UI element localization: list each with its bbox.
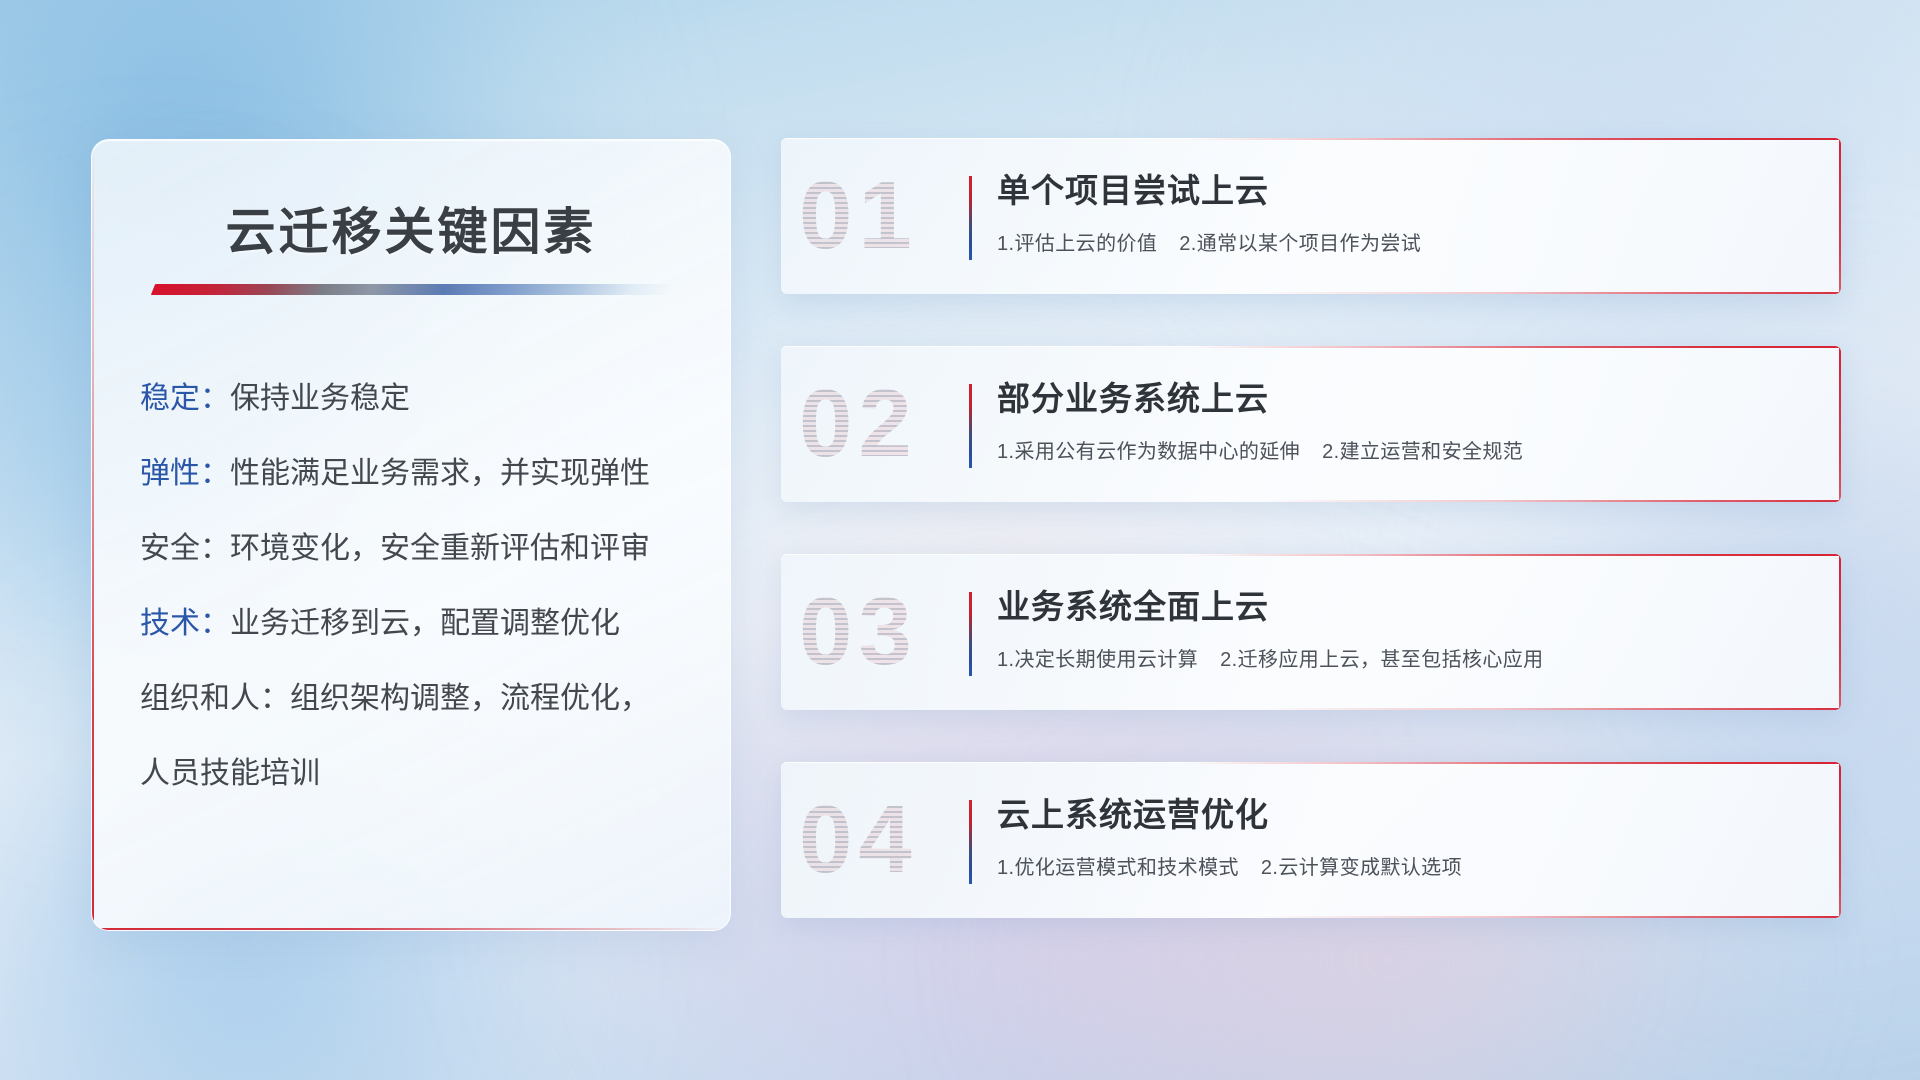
stage-accent-bar (969, 384, 972, 468)
migration-stage-card[interactable]: 0101单个项目尝试上云1.评估上云的价值2.通常以某个项目作为尝试 (781, 138, 1841, 294)
factor-row: 技术：业务迁移到云，配置调整优化 (140, 587, 690, 662)
stage-accent-bar (969, 800, 972, 884)
stage-points: 1.评估上云的价值2.通常以某个项目作为尝试 (997, 227, 1813, 256)
card-right-accent-line (1839, 138, 1841, 294)
migration-stage-card[interactable]: 0404云上系统运营优化1.优化运营模式和技术模式2.云计算变成默认选项 (781, 762, 1841, 918)
factor-row: 组织和人：组织架构调整，流程优化， (140, 662, 690, 737)
stage-number: 02 (799, 376, 918, 472)
card-top-accent-line (781, 762, 1841, 764)
stage-accent-bar (969, 592, 972, 676)
stage-point-1: 1.评估上云的价值 (997, 233, 1157, 255)
factor-description: 保持业务稳定 (230, 379, 410, 420)
card-bottom-accent-line (781, 500, 1841, 502)
stage-point-2: 2.建立运营和安全规范 (1322, 441, 1523, 463)
title-divider (151, 284, 675, 295)
stage-title: 部分业务系统上云 (997, 378, 1813, 419)
factor-description: 人员技能培训 (140, 754, 320, 795)
factor-list: 稳定：保持业务稳定弹性：性能满足业务需求，并实现弹性安全：环境变化，安全重新评估… (140, 362, 690, 812)
factor-description: 业务迁移到云，配置调整优化 (230, 604, 620, 645)
stage-title: 云上系统运营优化 (997, 794, 1813, 835)
stage-point-1: 1.优化运营模式和技术模式 (997, 857, 1239, 879)
stage-points: 1.决定长期使用云计算2.迁移应用上云，甚至包括核心应用 (997, 643, 1813, 672)
stage-point-2: 2.云计算变成默认选项 (1261, 857, 1462, 879)
card-top-accent-line (781, 346, 1841, 348)
stage-point-2: 2.通常以某个项目作为尝试 (1179, 233, 1421, 255)
card-right-accent-line (1839, 346, 1841, 502)
factor-row: 稳定：保持业务稳定 (140, 362, 690, 437)
stage-text-block: 云上系统运营优化1.优化运营模式和技术模式2.云计算变成默认选项 (997, 794, 1813, 880)
stage-text-block: 单个项目尝试上云1.评估上云的价值2.通常以某个项目作为尝试 (997, 170, 1813, 256)
factor-row: 人员技能培训 (140, 737, 690, 812)
stage-point-1: 1.采用公有云作为数据中心的延伸 (997, 441, 1300, 463)
factor-label: 技术： (140, 604, 230, 645)
key-factors-panel: 云迁移关键因素 稳定：保持业务稳定弹性：性能满足业务需求，并实现弹性安全：环境变… (91, 139, 731, 931)
card-bottom-accent-line (781, 916, 1841, 918)
factor-description: 环境变化，安全重新评估和评审 (230, 529, 650, 570)
factor-label: 安全： (140, 529, 230, 570)
migration-stage-card-list: 0101单个项目尝试上云1.评估上云的价值2.通常以某个项目作为尝试0202部分… (781, 138, 1841, 970)
stage-points: 1.优化运营模式和技术模式2.云计算变成默认选项 (997, 851, 1813, 880)
stage-text-block: 部分业务系统上云1.采用公有云作为数据中心的延伸2.建立运营和安全规范 (997, 378, 1813, 464)
card-right-accent-line (1839, 554, 1841, 710)
stage-point-1: 1.决定长期使用云计算 (997, 649, 1198, 671)
factor-row: 安全：环境变化，安全重新评估和评审 (140, 512, 690, 587)
stage-number: 01 (799, 168, 918, 264)
migration-stage-card[interactable]: 0202部分业务系统上云1.采用公有云作为数据中心的延伸2.建立运营和安全规范 (781, 346, 1841, 502)
page-title: 云迁移关键因素 (92, 192, 730, 264)
factor-description: 组织架构调整，流程优化， (290, 679, 650, 720)
factor-description: 性能满足业务需求，并实现弹性 (230, 454, 650, 495)
stage-number: 04 (799, 792, 918, 888)
stage-text-block: 业务系统全面上云1.决定长期使用云计算2.迁移应用上云，甚至包括核心应用 (997, 586, 1813, 672)
factor-label: 组织和人： (140, 679, 290, 720)
card-top-accent-line (781, 554, 1841, 556)
factor-label: 弹性： (140, 454, 230, 495)
card-bottom-accent-line (781, 708, 1841, 710)
factor-row: 弹性：性能满足业务需求，并实现弹性 (140, 437, 690, 512)
migration-stage-card[interactable]: 0303业务系统全面上云1.决定长期使用云计算2.迁移应用上云，甚至包括核心应用 (781, 554, 1841, 710)
stage-title: 单个项目尝试上云 (997, 170, 1813, 211)
stage-accent-bar (969, 176, 972, 260)
stage-number: 03 (799, 584, 918, 680)
card-top-accent-line (781, 138, 1841, 140)
card-right-accent-line (1839, 762, 1841, 918)
stage-points: 1.采用公有云作为数据中心的延伸2.建立运营和安全规范 (997, 435, 1813, 464)
factor-label: 稳定： (140, 379, 230, 420)
card-bottom-accent-line (781, 292, 1841, 294)
stage-title: 业务系统全面上云 (997, 586, 1813, 627)
stage-point-2: 2.迁移应用上云，甚至包括核心应用 (1220, 649, 1543, 671)
